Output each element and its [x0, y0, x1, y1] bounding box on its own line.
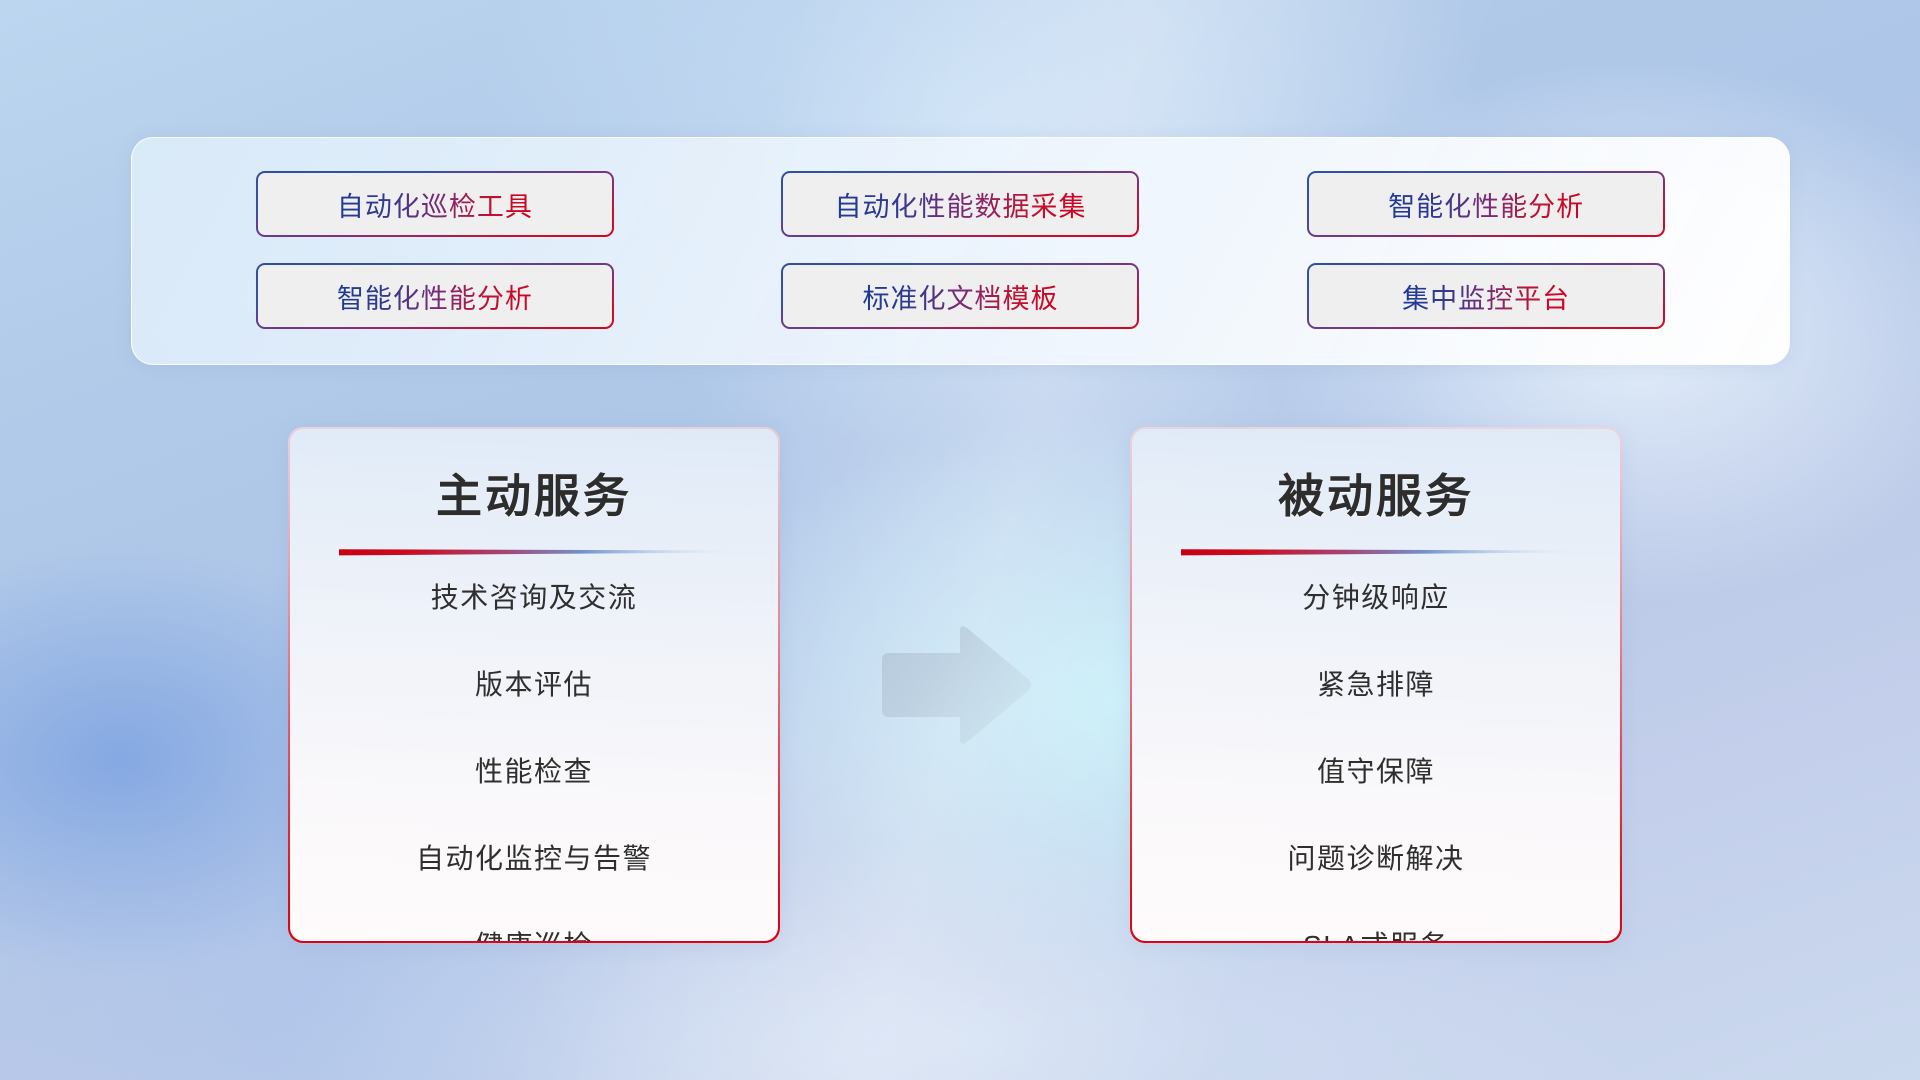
flow-arrow-right-icon — [876, 620, 1036, 750]
capability-pill-label: 智能化性能分析 — [337, 277, 533, 316]
capability-pill[interactable]: 集中监控平台 — [1307, 263, 1665, 329]
capability-pill-label: 自动化巡检工具 — [337, 185, 533, 224]
capability-pill-body: 集中监控平台 — [1309, 265, 1663, 327]
title-divider-icon — [1181, 548, 1571, 557]
capabilities-grid: 自动化巡检工具 自动化性能数据采集 智能化性能分析 智能化性能分析 标准化文档模… — [132, 138, 1789, 364]
capability-pill-label: 标准化文档模板 — [862, 277, 1058, 316]
service-item: 分钟级响应 — [1302, 584, 1450, 612]
service-item: SLA式服务 — [1303, 932, 1449, 942]
service-card-passive: 被动服务 分钟级响应 紧急排障 值守保障 问题诊断解决 SLA式服务 — [1130, 427, 1622, 943]
service-item: 自动化监控与告警 — [416, 845, 652, 873]
capability-pill-body: 智能化性能分析 — [258, 265, 612, 327]
service-item: 性能检查 — [475, 758, 593, 786]
service-item: 技术咨询及交流 — [431, 584, 638, 612]
service-card-active: 主动服务 技术咨询及交流 版本评估 性能检查 自动化监控与告警 健康巡检 — [288, 427, 780, 943]
service-item: 值守保障 — [1317, 758, 1435, 786]
capability-pill[interactable]: 自动化巡检工具 — [256, 171, 614, 237]
service-card-passive-items: 分钟级响应 紧急排障 值守保障 问题诊断解决 SLA式服务 — [1132, 584, 1621, 942]
capability-pill-label: 智能化性能分析 — [1388, 185, 1584, 224]
service-card-active-title: 主动服务 — [436, 460, 632, 526]
capability-pill[interactable]: 自动化性能数据采集 — [781, 171, 1139, 237]
service-item: 问题诊断解决 — [1287, 845, 1464, 873]
capability-pill-label: 自动化性能数据采集 — [834, 185, 1086, 224]
service-item: 紧急排障 — [1317, 671, 1435, 699]
service-card-passive-body: 被动服务 分钟级响应 紧急排障 值守保障 问题诊断解决 SLA式服务 — [1132, 429, 1621, 942]
capability-pill-body: 智能化性能分析 — [1309, 173, 1663, 235]
service-item: 版本评估 — [475, 671, 593, 699]
title-divider-icon — [339, 548, 729, 557]
capability-pill[interactable]: 标准化文档模板 — [781, 263, 1139, 329]
capability-pill-body: 自动化巡检工具 — [258, 173, 612, 235]
capability-pill[interactable]: 智能化性能分析 — [1307, 171, 1665, 237]
service-card-active-body: 主动服务 技术咨询及交流 版本评估 性能检查 自动化监控与告警 健康巡检 — [290, 429, 779, 942]
service-card-active-items: 技术咨询及交流 版本评估 性能检查 自动化监控与告警 健康巡检 — [290, 584, 779, 942]
service-item: 健康巡检 — [475, 932, 593, 942]
service-card-passive-title: 被动服务 — [1278, 460, 1474, 526]
capability-pill-body: 自动化性能数据采集 — [783, 173, 1137, 235]
capability-pill-body: 标准化文档模板 — [783, 265, 1137, 327]
capability-pill-label: 集中监控平台 — [1402, 277, 1570, 316]
capability-pill[interactable]: 智能化性能分析 — [256, 263, 614, 329]
capabilities-panel: 自动化巡检工具 自动化性能数据采集 智能化性能分析 智能化性能分析 标准化文档模… — [131, 137, 1790, 365]
